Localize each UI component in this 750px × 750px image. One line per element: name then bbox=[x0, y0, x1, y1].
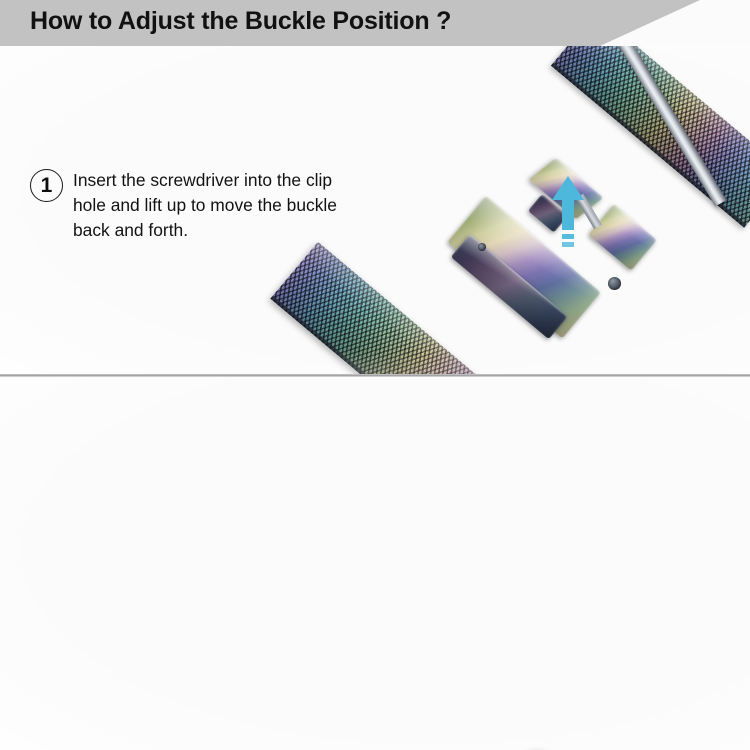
step-1-panel: 1 Insert the screwdriver into the clip h… bbox=[0, 46, 750, 375]
photo-vignette-2 bbox=[0, 378, 750, 750]
step-1-instruction: 1 Insert the screwdriver into the clip h… bbox=[30, 168, 337, 244]
instruction-page: How to Adjust the Buckle Position ? bbox=[0, 0, 750, 750]
step-1-number: 1 bbox=[30, 169, 63, 202]
step-1-line-3: back and forth. bbox=[73, 218, 337, 243]
step-1-line-1: Insert the screwdriver into the clip bbox=[73, 168, 337, 193]
step-1-line-2: hole and lift up to move the buckle bbox=[73, 193, 337, 218]
buckle-hinge-pin bbox=[608, 277, 621, 290]
step-1-text: Insert the screwdriver into the clip hol… bbox=[73, 168, 337, 244]
step-2-panel: 2 Adjusting the buckle to a suitable car… bbox=[0, 378, 750, 750]
lift-up-arrow bbox=[546, 174, 590, 254]
keeper-shine bbox=[588, 204, 657, 271]
section-divider bbox=[0, 374, 750, 377]
buckle-rivet bbox=[478, 243, 486, 251]
page-title: How to Adjust the Buckle Position ? bbox=[30, 7, 451, 36]
buckle-strap-keeper bbox=[588, 204, 657, 271]
page-header: How to Adjust the Buckle Position ? bbox=[0, 0, 750, 46]
